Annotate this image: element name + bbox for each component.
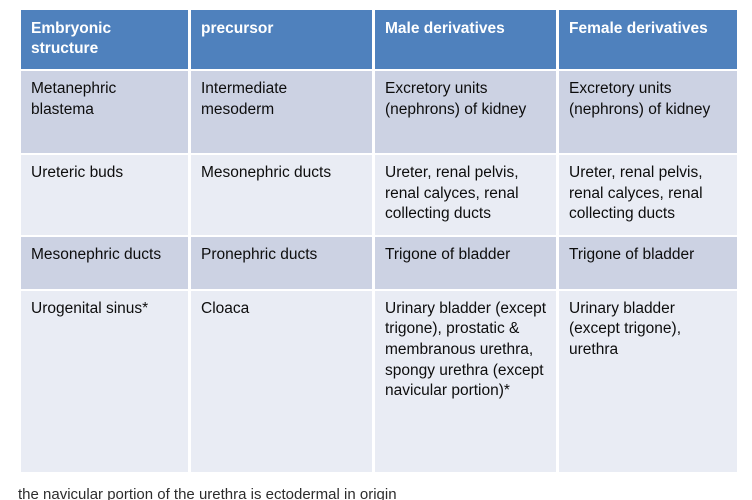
table-header: Embryonic structure precursor Male deriv… [21, 10, 737, 69]
column-header-female-derivatives: Female derivatives [559, 10, 737, 69]
cell-embryonic-structure: Metanephric blastema [21, 71, 188, 153]
cell-precursor: Pronephric ducts [191, 237, 372, 289]
cell-female-derivatives: Ureter, renal pelvis, renal calyces, ren… [559, 155, 737, 235]
cell-female-derivatives: Urinary bladder (except trigone), urethr… [559, 291, 737, 472]
embryonic-derivatives-table: Embryonic structure precursor Male deriv… [18, 8, 740, 474]
cell-embryonic-structure: Ureteric buds [21, 155, 188, 235]
cell-male-derivatives: Urinary bladder (except trigone), prosta… [375, 291, 556, 472]
cell-male-derivatives: Ureter, renal pelvis, renal calyces, ren… [375, 155, 556, 235]
column-header-embryonic-structure: Embryonic structure [21, 10, 188, 69]
footnote-clipped: the navicular portion of the urethra is … [18, 487, 718, 500]
cell-male-derivatives: Excretory units (nephrons) of kidney [375, 71, 556, 153]
cell-precursor: Cloaca [191, 291, 372, 472]
table-row: Urogenital sinus* Cloaca Urinary bladder… [21, 291, 737, 472]
cell-embryonic-structure: Urogenital sinus* [21, 291, 188, 472]
cell-male-derivatives: Trigone of bladder [375, 237, 556, 289]
table-body: Metanephric blastema Intermediate mesode… [21, 71, 737, 472]
cell-precursor: Intermediate mesoderm [191, 71, 372, 153]
cell-female-derivatives: Trigone of bladder [559, 237, 737, 289]
table-row: Metanephric blastema Intermediate mesode… [21, 71, 737, 153]
table-row: Mesonephric ducts Pronephric ducts Trigo… [21, 237, 737, 289]
cell-female-derivatives: Excretory units (nephrons) of kidney [559, 71, 737, 153]
cell-precursor: Mesonephric ducts [191, 155, 372, 235]
table-header-row: Embryonic structure precursor Male deriv… [21, 10, 737, 69]
cell-embryonic-structure: Mesonephric ducts [21, 237, 188, 289]
column-header-precursor: precursor [191, 10, 372, 69]
embryonic-derivatives-table-wrapper: Embryonic structure precursor Male deriv… [18, 8, 737, 474]
column-header-male-derivatives: Male derivatives [375, 10, 556, 69]
table-row: Ureteric buds Mesonephric ducts Ureter, … [21, 155, 737, 235]
footnote-text: the navicular portion of the urethra is … [18, 487, 718, 500]
